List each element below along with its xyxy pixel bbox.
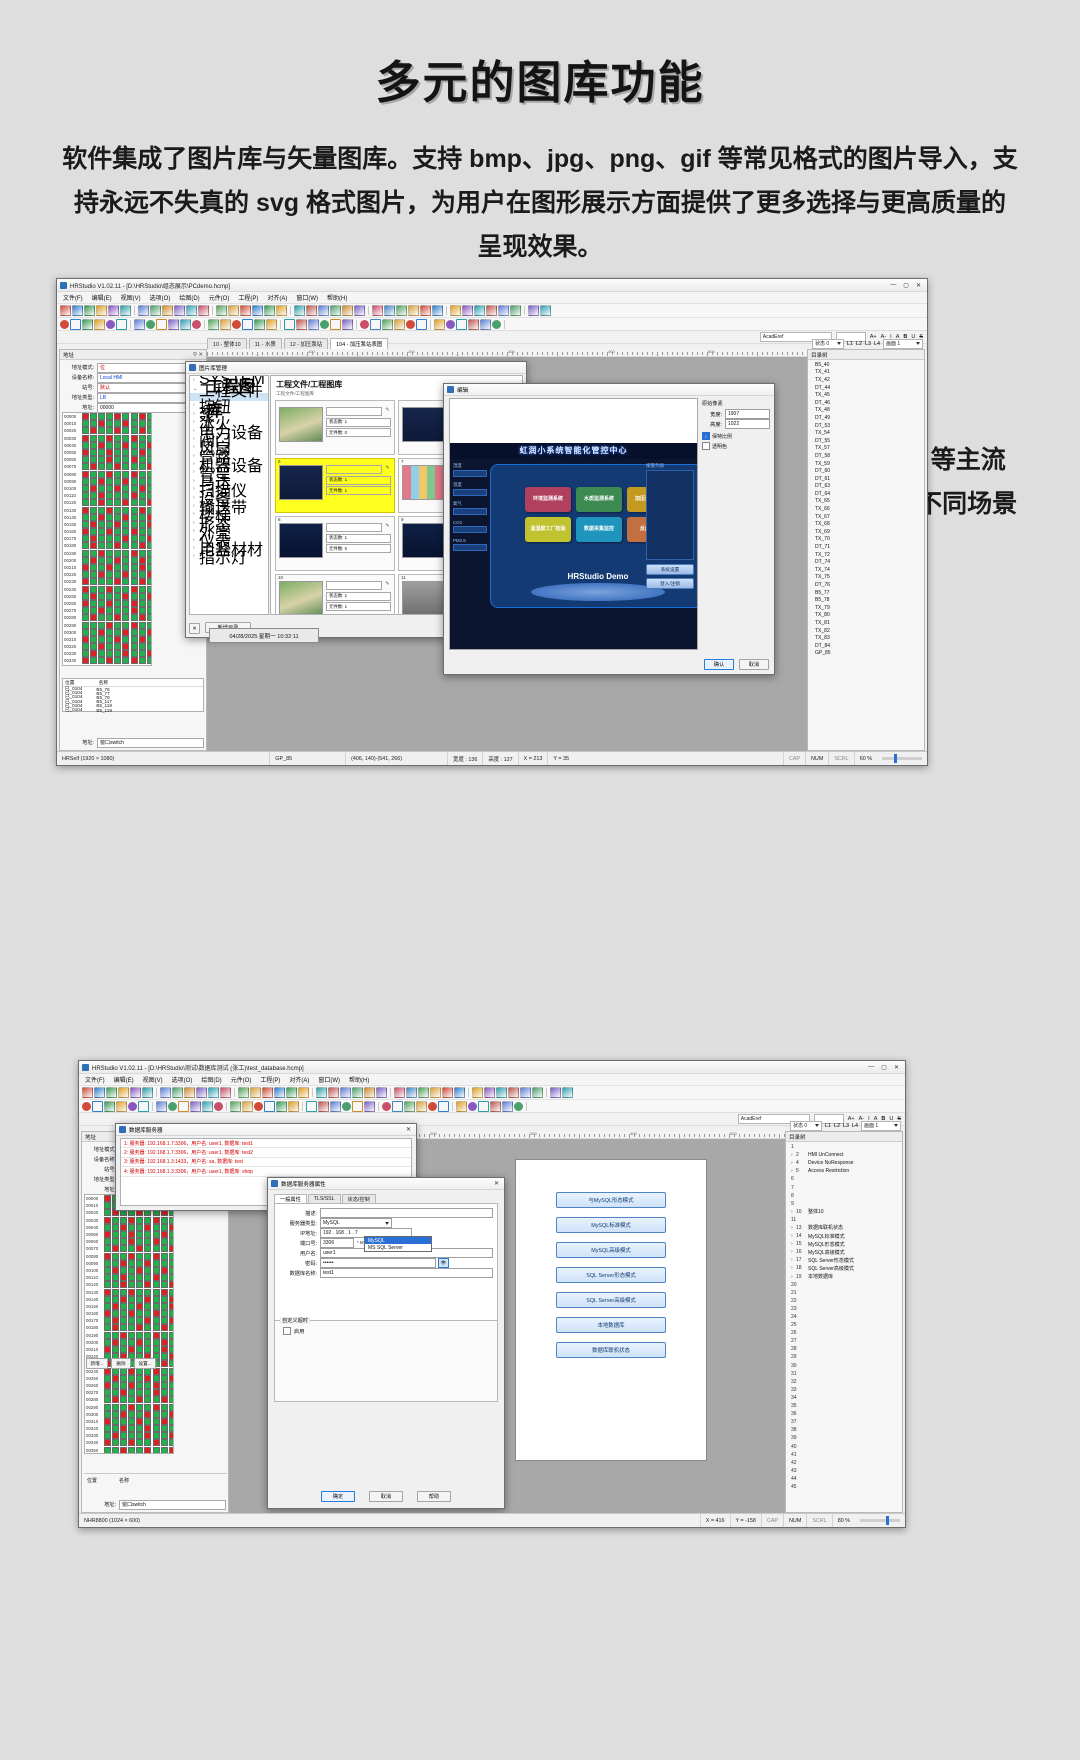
bit-cell[interactable] <box>136 1303 143 1310</box>
bit-cell[interactable] <box>106 485 113 492</box>
bit-cell[interactable] <box>147 420 152 427</box>
bit-cell[interactable] <box>112 1339 119 1346</box>
tree-item[interactable]: 45 <box>788 1483 902 1491</box>
address-footer-value[interactable]: 窗口switch <box>97 738 204 748</box>
bit-cell[interactable] <box>104 1396 111 1403</box>
toolbar-icon[interactable] <box>138 305 149 316</box>
bit-cell[interactable] <box>131 514 138 521</box>
bit-cell[interactable] <box>122 449 129 456</box>
bit-cell[interactable] <box>122 463 129 470</box>
bit-row[interactable]: 00150 <box>85 1303 173 1310</box>
tree-item[interactable]: TX_70 <box>812 536 924 544</box>
bit-row[interactable]: 00080 <box>63 471 151 478</box>
bit-row[interactable]: 00020 <box>63 427 151 434</box>
bit-cell[interactable] <box>144 1332 151 1339</box>
bit-cell[interactable] <box>90 578 97 585</box>
bit-cell[interactable] <box>139 557 146 564</box>
bit-cell[interactable] <box>169 1418 174 1425</box>
hrstudio-window-1[interactable]: HRStudio V1.02.11 - [D:\HRStudio\组态展示\PC… <box>56 278 928 766</box>
bit-cell[interactable] <box>139 521 146 528</box>
bit-cell[interactable] <box>144 1339 151 1346</box>
canvas-action-button[interactable]: MySQL标准模式 <box>556 1217 666 1233</box>
bit-cell[interactable] <box>114 492 121 499</box>
bit-cell[interactable] <box>144 1296 151 1303</box>
toolbar-icon[interactable] <box>354 305 365 316</box>
library-card[interactable]: 10✎状态数: 1元件数: 1 <box>275 574 395 615</box>
bit-cell[interactable] <box>90 593 97 600</box>
toolbar-icon[interactable] <box>82 1087 93 1098</box>
bit-cell[interactable] <box>122 593 129 600</box>
bit-cell[interactable] <box>90 622 97 629</box>
bit-cell[interactable] <box>128 1245 135 1252</box>
toolbar-icon[interactable] <box>306 1101 317 1112</box>
bit-cell[interactable] <box>82 542 89 549</box>
bit-row[interactable]: 00160 <box>85 1310 173 1317</box>
toolbar-icon[interactable] <box>430 1087 441 1098</box>
bit-cell[interactable] <box>106 542 113 549</box>
bit-cell[interactable] <box>161 1375 168 1382</box>
bit-cell[interactable] <box>98 471 105 478</box>
toolbar-icon[interactable] <box>128 1102 137 1111</box>
db-help-button[interactable]: 帮助 <box>417 1491 451 1502</box>
db-cancel-button[interactable]: 取消 <box>369 1491 403 1502</box>
bit-cell[interactable] <box>144 1324 151 1331</box>
bit-cell[interactable] <box>147 578 152 585</box>
bit-cell[interactable] <box>131 478 138 485</box>
bit-cell[interactable] <box>90 528 97 535</box>
bit-cell[interactable] <box>104 1231 111 1238</box>
toolbar-icon[interactable] <box>174 305 185 316</box>
toolbar-icon[interactable] <box>306 305 317 316</box>
bit-cell[interactable] <box>169 1224 174 1231</box>
bit-cell[interactable] <box>147 507 152 514</box>
bit-cell[interactable] <box>120 1432 127 1439</box>
bit-cell[interactable] <box>114 550 121 557</box>
bit-cell[interactable] <box>82 435 89 442</box>
bit-cell[interactable] <box>139 478 146 485</box>
address-footer[interactable]: 地址: 窗口switch <box>60 738 204 747</box>
bit-row[interactable]: 00000 <box>63 413 151 420</box>
bit-cell[interactable] <box>122 435 129 442</box>
toolbar-icon[interactable] <box>418 1087 429 1098</box>
bit-cell[interactable] <box>98 578 105 585</box>
toolbar-icon[interactable] <box>254 1102 263 1111</box>
bit-cell[interactable] <box>82 456 89 463</box>
bit-cell[interactable] <box>90 557 97 564</box>
bit-cell[interactable] <box>98 657 105 664</box>
tree-item[interactable]: TX_80 <box>812 612 924 620</box>
bit-cell[interactable] <box>112 1267 119 1274</box>
db-form-input[interactable]: 3306 <box>320 1238 354 1248</box>
bit-cell[interactable] <box>122 521 129 528</box>
toolbar-primary[interactable] <box>57 304 927 318</box>
bit-row[interactable]: 00130 <box>85 1288 173 1295</box>
bit-cell[interactable] <box>131 535 138 542</box>
tree-item[interactable]: TX_81 <box>812 619 924 627</box>
library-card-name-row[interactable]: ✎ <box>326 465 391 474</box>
bit-cell[interactable] <box>98 586 105 593</box>
bit-cell[interactable] <box>169 1425 174 1432</box>
hmi-alarm-list[interactable] <box>646 470 694 560</box>
bit-cell[interactable] <box>114 650 121 657</box>
bit-cell[interactable] <box>114 463 121 470</box>
toolbar-icon[interactable] <box>96 305 107 316</box>
tree-item[interactable]: ›2HMI UnConnect <box>788 1151 902 1159</box>
hmi-module-button[interactable]: 环境监测系统 <box>525 487 571 512</box>
bit-cell[interactable] <box>112 1217 119 1224</box>
bit-cell[interactable] <box>169 1324 174 1331</box>
bit-cell[interactable] <box>90 485 97 492</box>
bit-cell[interactable] <box>144 1224 151 1231</box>
edit-image-dialog[interactable]: 编辑 虹润小系统智能化管控中心 湿度温度氧气CO2PM2.5 环境监测系统水质监… <box>443 383 775 675</box>
image-library-titlebar[interactable]: 图片库管理 <box>186 362 526 374</box>
bit-cell[interactable] <box>112 1425 119 1432</box>
bit-cell[interactable] <box>90 463 97 470</box>
bit-cell[interactable] <box>139 499 146 506</box>
bit-cell[interactable] <box>90 636 97 643</box>
bit-cell[interactable] <box>128 1274 135 1281</box>
bit-cell[interactable] <box>114 521 121 528</box>
toolbar-icon[interactable] <box>108 305 119 316</box>
bit-cell[interactable] <box>169 1274 174 1281</box>
canvas-action-button[interactable]: SQL Server形态模式 <box>556 1267 666 1283</box>
toolbar-icon[interactable] <box>352 1087 363 1098</box>
bit-cell[interactable] <box>90 600 97 607</box>
bit-cell[interactable] <box>169 1217 174 1224</box>
bit-cell[interactable] <box>104 1332 111 1339</box>
menu-item-align[interactable]: 对齐(A) <box>289 1075 309 1084</box>
bit-cell[interactable] <box>104 1447 111 1454</box>
bit-cell[interactable] <box>82 600 89 607</box>
toolbar-icon[interactable] <box>456 1101 467 1112</box>
bit-cell[interactable] <box>98 514 105 521</box>
toolbar-icon[interactable] <box>384 305 395 316</box>
toolbar-icon[interactable] <box>264 1101 275 1112</box>
bit-cell[interactable] <box>153 1274 160 1281</box>
bit-cell[interactable] <box>131 607 138 614</box>
maximize-icon[interactable]: ▢ <box>881 1064 887 1071</box>
bit-cell[interactable] <box>131 427 138 434</box>
bit-cell[interactable] <box>98 564 105 571</box>
bit-row[interactable]: 00170 <box>63 535 151 542</box>
bit-cell[interactable] <box>153 1447 160 1454</box>
address-field-row[interactable]: 设备名称:Local HMI <box>60 373 203 382</box>
db-ok-button[interactable]: 确定 <box>321 1491 355 1502</box>
bit-cell[interactable] <box>144 1375 151 1382</box>
bit-cell[interactable] <box>122 528 129 535</box>
db-server-close-icon[interactable]: ✕ <box>406 1126 413 1133</box>
bit-cell[interactable] <box>139 614 146 621</box>
bit-cell[interactable] <box>161 1260 168 1267</box>
menubar-2[interactable]: 文件(F) 编辑(E) 视图(V) 选项(O) 绘图(D) 元件(O) 工程(P… <box>79 1074 905 1086</box>
toolbar-icon[interactable] <box>370 319 381 330</box>
db-prop-titlebar[interactable]: 数据库服务器属性 ✕ <box>268 1178 504 1190</box>
bit-cell[interactable] <box>114 586 121 593</box>
bit-cell[interactable] <box>147 622 152 629</box>
toolbar-icon[interactable] <box>82 319 93 330</box>
bit-cell[interactable] <box>147 449 152 456</box>
bit-cell[interactable] <box>136 1267 143 1274</box>
bit-cell[interactable] <box>104 1260 111 1267</box>
hmi-settings-button[interactable]: 系统设置 <box>646 564 694 575</box>
bit-cell[interactable] <box>104 1375 111 1382</box>
tree-item[interactable]: 40 <box>788 1442 902 1450</box>
db-server-row[interactable]: 2: 服务器: 192.168.1.7:3306，用户名: user1, 数据库… <box>121 1148 411 1157</box>
bit-cell[interactable] <box>128 1324 135 1331</box>
bit-cell[interactable] <box>139 435 146 442</box>
bit-cell[interactable] <box>98 614 105 621</box>
bit-cell[interactable] <box>153 1432 160 1439</box>
db-prop-buttons[interactable]: 确定 取消 帮助 <box>268 1491 504 1502</box>
bit-cell[interactable] <box>131 571 138 578</box>
toolbar-primary-2[interactable] <box>79 1086 905 1100</box>
bit-row[interactable]: 00320 <box>85 1425 173 1432</box>
bit-row[interactable]: 00290 <box>63 621 151 628</box>
bit-cell[interactable] <box>98 557 105 564</box>
menu-item-file[interactable]: 文件(F) <box>63 293 83 302</box>
bit-cell[interactable] <box>122 564 129 571</box>
height-input[interactable]: 1022 <box>725 419 770 429</box>
keep-ratio-checkbox[interactable]: ✓ <box>702 432 710 440</box>
bit-cell[interactable] <box>104 1209 111 1216</box>
bit-row[interactable]: 00040 <box>85 1224 173 1231</box>
canvas-action-button[interactable]: 数据库联机状态 <box>556 1342 666 1358</box>
tree-item[interactable]: GP_85 <box>812 650 924 658</box>
minimize-icon[interactable]: — <box>890 282 896 289</box>
bit-row[interactable]: 00070 <box>63 463 151 470</box>
toolbar-icon[interactable] <box>180 319 191 330</box>
toolbar-icon[interactable] <box>178 1101 189 1112</box>
menu-item-element[interactable]: 元件(O) <box>231 1075 252 1084</box>
toolbar-icon[interactable] <box>184 1087 195 1098</box>
bit-cell[interactable] <box>136 1231 143 1238</box>
bit-row[interactable]: 00290 <box>85 1403 173 1410</box>
bit-row[interactable]: 00350 <box>63 665 151 666</box>
bit-cell[interactable] <box>136 1332 143 1339</box>
toolbar-icon[interactable] <box>404 1101 415 1112</box>
tree-item[interactable]: 27 <box>788 1337 902 1345</box>
tree-item[interactable]: 36 <box>788 1410 902 1418</box>
bit-cell[interactable] <box>112 1346 119 1353</box>
bit-cell[interactable] <box>144 1317 151 1324</box>
bit-cell[interactable] <box>136 1396 143 1403</box>
db-form-input[interactable] <box>320 1208 493 1218</box>
bit-cell[interactable] <box>112 1375 119 1382</box>
toolbar-icon[interactable] <box>242 1101 253 1112</box>
bit-cell[interactable] <box>139 514 146 521</box>
bit-cell[interactable] <box>82 629 89 636</box>
bit-cell[interactable] <box>153 1346 160 1353</box>
bit-cell[interactable] <box>161 1425 168 1432</box>
bit-cell[interactable] <box>104 1303 111 1310</box>
bit-cell[interactable] <box>122 442 129 449</box>
bit-cell[interactable] <box>139 542 146 549</box>
toolbar-icon[interactable] <box>450 305 461 316</box>
bit-cell[interactable] <box>144 1389 151 1396</box>
toolbar-icon[interactable] <box>214 1102 223 1111</box>
bit-cell[interactable] <box>139 449 146 456</box>
tree-item[interactable]: 28 <box>788 1345 902 1353</box>
bit-cell[interactable] <box>128 1389 135 1396</box>
bit-row[interactable]: 00340 <box>85 1439 173 1446</box>
bit-row[interactable]: 00150 <box>63 521 151 528</box>
tree-item[interactable]: 22 <box>788 1297 902 1305</box>
toolbar-icon[interactable] <box>330 319 341 330</box>
bit-cell[interactable] <box>82 650 89 657</box>
toolbar-icon[interactable] <box>220 1087 231 1098</box>
bit-cell[interactable] <box>98 427 105 434</box>
zoom-slider-thumb[interactable] <box>894 754 897 763</box>
bit-cell[interactable] <box>90 643 97 650</box>
bit-cell[interactable] <box>112 1296 119 1303</box>
tree-item[interactable]: DT_44 <box>812 384 924 392</box>
toolbar-icon[interactable] <box>208 1087 219 1098</box>
bit-cell[interactable] <box>98 665 105 666</box>
bit-cell[interactable] <box>128 1281 135 1288</box>
bit-cell[interactable] <box>131 557 138 564</box>
toolbar-icon[interactable] <box>416 1101 427 1112</box>
bit-cell[interactable] <box>122 413 129 420</box>
bit-cell[interactable] <box>144 1217 151 1224</box>
toolbar-icon[interactable] <box>294 305 305 316</box>
toolbar-icon[interactable] <box>216 305 227 316</box>
toolbar-icon[interactable] <box>198 305 209 316</box>
bit-cell[interactable] <box>139 420 146 427</box>
bit-row[interactable]: 00240 <box>63 586 151 593</box>
toolbar-icon[interactable] <box>340 1087 351 1098</box>
toolbar-icon[interactable] <box>498 305 509 316</box>
bit-cell[interactable] <box>114 622 121 629</box>
address-field-row[interactable]: 地址模式:位 <box>60 363 203 372</box>
menu-item-element[interactable]: 元件(O) <box>209 293 230 302</box>
toolbar-icon[interactable] <box>138 1101 149 1112</box>
bit-cell[interactable] <box>82 643 89 650</box>
bit-cell[interactable] <box>104 1404 111 1411</box>
bit-cell[interactable] <box>90 564 97 571</box>
toolbar-shapes-2[interactable] <box>79 1100 905 1113</box>
bit-cell[interactable] <box>161 1368 168 1375</box>
bit-cell[interactable] <box>128 1404 135 1411</box>
toolbar-icon[interactable] <box>254 319 265 330</box>
bit-cell[interactable] <box>139 665 146 666</box>
bit-cell[interactable] <box>106 449 113 456</box>
tree-item[interactable]: DT_84 <box>812 642 924 650</box>
bit-cell[interactable] <box>131 614 138 621</box>
bit-cell[interactable] <box>120 1310 127 1317</box>
bit-cell[interactable] <box>144 1396 151 1403</box>
bit-cell[interactable] <box>120 1447 127 1454</box>
bit-cell[interactable] <box>144 1238 151 1245</box>
bit-cell[interactable] <box>98 435 105 442</box>
tree-item[interactable]: DT_76 <box>812 581 924 589</box>
show-password-icon[interactable]: 👁 <box>438 1258 449 1268</box>
window-titlebar[interactable]: HRStudio V1.02.11 - [D:\HRStudio\组态展示\PC… <box>57 279 927 292</box>
bit-cell[interactable] <box>161 1360 168 1367</box>
bit-cell[interactable] <box>136 1375 143 1382</box>
toolbar-icon[interactable] <box>284 319 295 330</box>
bit-cell[interactable] <box>136 1289 143 1296</box>
tree-item[interactable]: 31 <box>788 1370 902 1378</box>
toolbar-icon[interactable] <box>230 1101 241 1112</box>
hmi-module-button[interactable]: 水质监测系统 <box>576 487 622 512</box>
bit-cell[interactable] <box>131 550 138 557</box>
toolbar-icon[interactable] <box>106 1087 117 1098</box>
bit-cell[interactable] <box>128 1238 135 1245</box>
bit-cell[interactable] <box>161 1332 168 1339</box>
bit-cell[interactable] <box>112 1418 119 1425</box>
toolbar-icon[interactable] <box>318 1101 329 1112</box>
bit-cell[interactable] <box>106 435 113 442</box>
bit-address-grid-2[interactable]: 0000000010000200003000040000500006000070… <box>84 1194 174 1454</box>
tree-item[interactable]: TX_54 <box>812 429 924 437</box>
bit-cell[interactable] <box>98 542 105 549</box>
bit-cell[interactable] <box>161 1274 168 1281</box>
toolbar-icon[interactable] <box>496 1087 507 1098</box>
tree-item[interactable]: ›18SQL Server高级模式 <box>788 1264 902 1272</box>
bit-cell[interactable] <box>128 1346 135 1353</box>
bit-cell[interactable] <box>106 507 113 514</box>
bit-cell[interactable] <box>136 1224 143 1231</box>
address-name-list[interactable]: 位置名称已_0104B5_76已_0104B5_77已_0104B5_78已_0… <box>62 678 204 712</box>
bit-cell[interactable] <box>120 1289 127 1296</box>
bit-cell[interactable] <box>104 1425 111 1432</box>
toolbar-icon[interactable] <box>238 1087 249 1098</box>
library-category-tree[interactable]: ›SYSTEM⌄工程文件工程图库›按钮›泵›冰火›电力设备›阀门›风扇›管路›机… <box>189 375 269 615</box>
window2-controls[interactable]: — ▢ ✕ <box>868 1064 902 1071</box>
bit-cell[interactable] <box>169 1317 174 1324</box>
bit-cell[interactable] <box>104 1411 111 1418</box>
bit-cell[interactable] <box>104 1238 111 1245</box>
bit-cell[interactable] <box>104 1281 111 1288</box>
bit-cell[interactable] <box>106 665 113 666</box>
bit-cell[interactable] <box>153 1310 160 1317</box>
layer-l4-button[interactable]: L4 <box>874 341 880 347</box>
bit-cell[interactable] <box>98 413 105 420</box>
bit-cell[interactable] <box>114 427 121 434</box>
toolbar-icon[interactable] <box>116 1101 127 1112</box>
bit-cell[interactable] <box>131 600 138 607</box>
tree-item[interactable]: 21 <box>788 1289 902 1297</box>
tree-item[interactable]: 7 <box>788 1183 902 1191</box>
bit-cell[interactable] <box>106 629 113 636</box>
tab-screen-10[interactable]: 10 - 整体10 <box>207 338 247 349</box>
tree-item[interactable]: 32 <box>788 1378 902 1386</box>
bit-cell[interactable] <box>90 435 97 442</box>
toolbar-icon[interactable] <box>532 1087 543 1098</box>
bit-cell[interactable] <box>147 435 152 442</box>
bit-cell[interactable] <box>82 593 89 600</box>
bit-cell[interactable] <box>169 1360 174 1367</box>
bit-cell[interactable] <box>144 1418 151 1425</box>
bit-cell[interactable] <box>90 442 97 449</box>
toolbar-icon[interactable] <box>406 1087 417 1098</box>
library-card-name-row[interactable]: ✎ <box>326 581 391 590</box>
bit-cell[interactable] <box>139 413 146 420</box>
toolbar-icon[interactable] <box>186 305 197 316</box>
bit-cell[interactable] <box>139 607 146 614</box>
bit-row[interactable]: 00060 <box>63 456 151 463</box>
bit-cell[interactable] <box>169 1396 174 1403</box>
bit-cell[interactable] <box>112 1382 119 1389</box>
tree-item[interactable]: 9 <box>788 1200 902 1208</box>
bit-cell[interactable] <box>153 1224 160 1231</box>
bit-cell[interactable] <box>98 478 105 485</box>
hmi-login-button[interactable]: 登入/注销 <box>646 578 694 589</box>
bit-cell[interactable] <box>131 542 138 549</box>
bit-cell[interactable] <box>147 499 152 506</box>
bit-cell[interactable] <box>120 1224 127 1231</box>
bit-cell[interactable] <box>161 1238 168 1245</box>
